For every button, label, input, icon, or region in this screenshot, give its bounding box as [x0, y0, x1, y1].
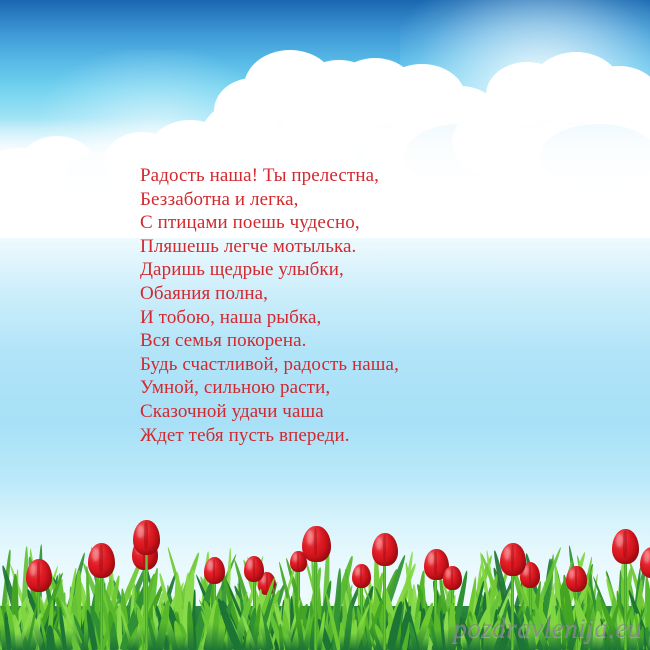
tulip-stem: [100, 572, 103, 650]
tulip-stem: [383, 560, 386, 650]
poem-line: Ждет тебя пусть впереди.: [140, 424, 520, 448]
poem-line: Вся семья покорена.: [140, 329, 520, 353]
poem-line: Умной, сильною расти,: [140, 376, 520, 400]
tulip-stem: [145, 549, 148, 650]
tulip-flower: [566, 566, 587, 592]
tulip-flower: [372, 533, 398, 566]
tulip-flower: [612, 529, 639, 564]
watermark: pozdravlenija.eu: [453, 613, 642, 644]
tulip-flower: [640, 547, 650, 578]
tulip-flower: [244, 556, 264, 582]
tulip-flower: [500, 543, 526, 576]
tulip-flower: [88, 543, 115, 578]
tulip-flower: [352, 564, 371, 588]
poem-line: Сказочной удачи чаша: [140, 400, 520, 424]
poem-line: Радость наша! Ты прелестна,: [140, 164, 520, 188]
tulip-flower: [133, 520, 160, 555]
tulip-flower: [204, 557, 225, 584]
tulip-flower: [443, 566, 462, 590]
poem-text: Радость наша! Ты прелестна, Беззаботна и…: [140, 164, 520, 447]
poem-line: Даришь щедрые улыбки,: [140, 258, 520, 282]
poem-line: С птицами поешь чудесно,: [140, 211, 520, 235]
poem-line: И тобою, наша рыбка,: [140, 306, 520, 330]
tulip-flower: [26, 559, 52, 592]
poem-line: Беззаботна и легка,: [140, 188, 520, 212]
greeting-card: Радость наша! Ты прелестна, Беззаботна и…: [0, 0, 650, 650]
grass-blade: [110, 622, 116, 650]
poem-line: Обаяния полна,: [140, 282, 520, 306]
poem-line: Будь счастливой, радость наша,: [140, 353, 520, 377]
tulip-stem: [314, 556, 317, 650]
poem-line: Пляшешь легче мотылька.: [140, 235, 520, 259]
tulip-flower: [302, 526, 331, 562]
